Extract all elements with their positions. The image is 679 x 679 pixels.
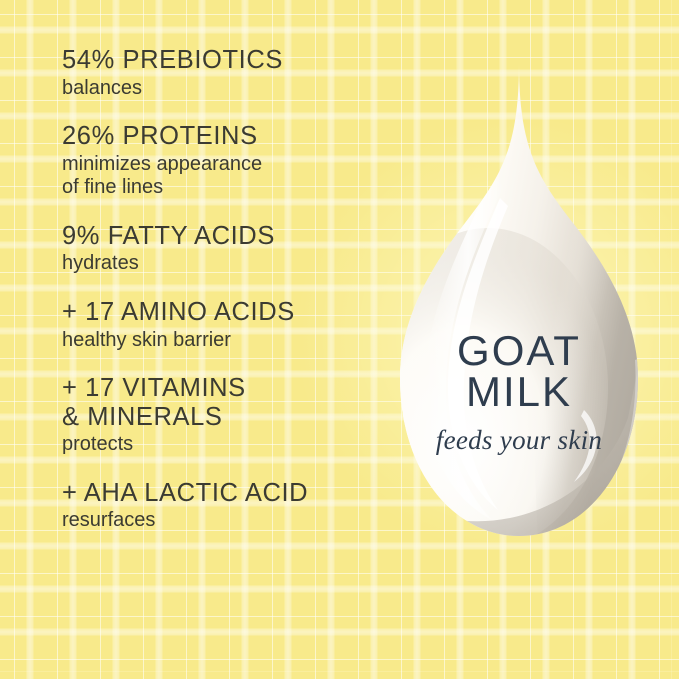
list-item: + 17 VITAMINS & MINERALS protects [62,374,382,457]
ingredient-benefit: healthy skin barrier [62,329,382,353]
milk-droplet: GOAT MILK feeds your skin [388,58,650,548]
ingredient-benefit: minimizes appearance of fine lines [62,153,382,200]
ingredient-benefit: resurfaces [62,509,382,533]
ingredient-benefit-list: 54% PREBIOTICS balances 26% PROTEINS min… [62,46,382,555]
ingredient-benefit: hydrates [62,252,382,276]
list-item: 9% FATTY ACIDS hydrates [62,222,382,276]
ingredient-title: + 17 VITAMINS & MINERALS [62,374,382,431]
ingredient-title: 54% PREBIOTICS [62,46,382,75]
goat-milk-ingredient-infographic: 54% PREBIOTICS balances 26% PROTEINS min… [0,0,679,679]
droplet-shape-icon [388,58,650,548]
ingredient-title: 9% FATTY ACIDS [62,222,382,251]
ingredient-benefit: balances [62,77,382,101]
list-item: 26% PROTEINS minimizes appearance of fin… [62,122,382,200]
droplet-neck-shadow [519,64,650,548]
list-item: 54% PREBIOTICS balances [62,46,382,100]
ingredient-benefit: protects [62,433,382,457]
list-item: + AHA LACTIC ACID resurfaces [62,479,382,533]
ingredient-title: + AHA LACTIC ACID [62,479,382,508]
ingredient-title: 26% PROTEINS [62,122,382,151]
ingredient-title: + 17 AMINO ACIDS [62,298,382,327]
list-item: + 17 AMINO ACIDS healthy skin barrier [62,298,382,352]
